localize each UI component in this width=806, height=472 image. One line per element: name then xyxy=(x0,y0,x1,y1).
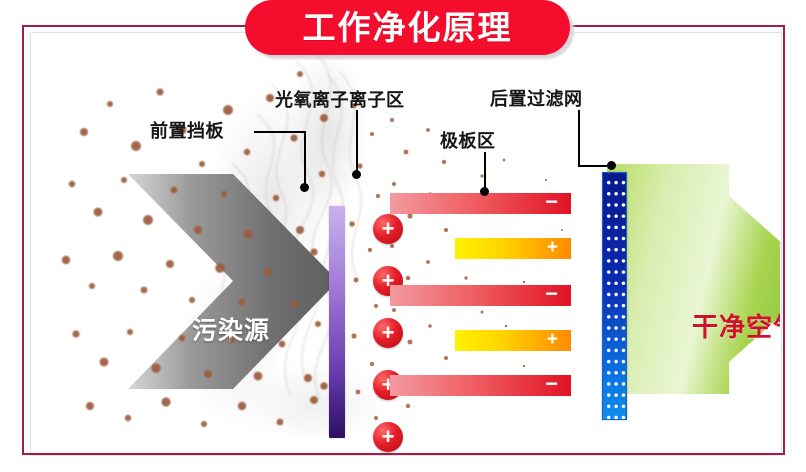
callout-label-filter: 后置过滤网 xyxy=(490,90,583,108)
callout-label-baffle: 前置挡板 xyxy=(150,122,224,140)
callout-label-ion: 光氧离子离子区 xyxy=(275,91,405,109)
leader-line-plate-v xyxy=(484,152,486,192)
callout-label-plate: 极板区 xyxy=(440,132,496,150)
leader-line-filter-v xyxy=(578,110,580,166)
diagram-canvas: 污染源 干净空气 xyxy=(32,34,780,454)
collector-plate-2: + xyxy=(455,238,571,259)
plate-sign-1: − xyxy=(545,191,558,213)
page-title: 工作净化原理 xyxy=(303,11,513,44)
purple-baffle-bar xyxy=(329,206,345,438)
ion-node-1: + xyxy=(373,214,403,244)
ion-plus-sign-1: + xyxy=(373,214,403,244)
filter-mesh-dots xyxy=(603,173,626,419)
ion-plus-sign-5: + xyxy=(373,422,403,452)
title-banner: 工作净化原理 xyxy=(245,0,570,55)
ion-node-3: + xyxy=(373,318,403,348)
ion-plus-sign-3: + xyxy=(373,318,403,348)
leader-line-ion-v xyxy=(356,110,358,175)
ion-node-5: + xyxy=(373,422,403,452)
leader-dot-ion xyxy=(352,170,361,179)
collector-plate-3: − xyxy=(390,285,571,306)
collector-plate-4: + xyxy=(455,330,571,351)
plate-sign-3: − xyxy=(545,283,558,305)
leader-dot-plate xyxy=(480,187,489,196)
plate-sign-2: + xyxy=(547,238,558,257)
leader-line-baffle-h xyxy=(254,131,306,133)
diagram-stage: 工作净化原理 xyxy=(0,0,806,472)
plate-sign-5: − xyxy=(545,373,558,395)
collector-plate-5: − xyxy=(390,375,571,396)
collector-plate-1: − xyxy=(390,193,571,214)
leader-line-baffle-v xyxy=(304,131,306,188)
leader-dot-filter xyxy=(607,161,616,170)
blue-filter-mesh xyxy=(602,172,627,420)
plate-sign-4: + xyxy=(547,330,558,349)
leader-dot-baffle xyxy=(300,183,309,192)
